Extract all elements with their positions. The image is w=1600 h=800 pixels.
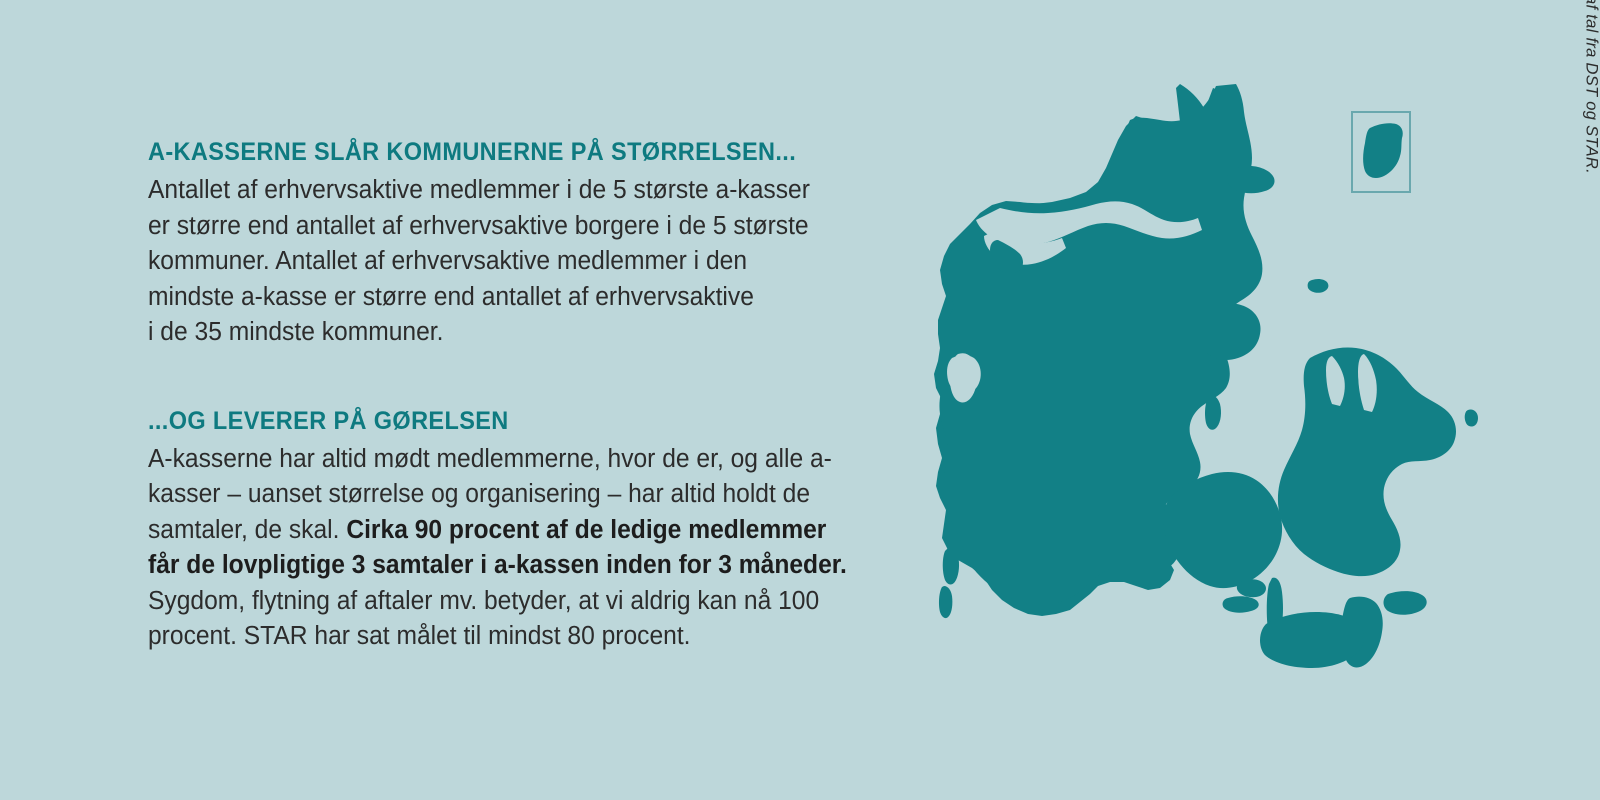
paragraph-1-line-1: Antallet af erhvervsaktive medlemmer i d…	[148, 176, 810, 204]
paragraph-1-line-5: i de 35 mindste kommuner.	[148, 318, 443, 346]
heading-a-kasserne-slaar-kommunerne: A-KASSERNE SLÅR KOMMUNERNE PÅ STØRRELSEN…	[148, 138, 844, 167]
denmark-map	[880, 58, 1500, 748]
paragraph-2-part-3: Sygdom, flytning af aftaler mv. betyder,…	[148, 587, 819, 651]
paragraph-1-line-4: mindste a-kasse er større end antallet a…	[148, 283, 754, 311]
map-island-fanoe	[943, 547, 959, 584]
text-block-2: ...OG LEVERER PÅ GØRELSEN A-kasserne har…	[148, 407, 888, 655]
map-island-taasinge	[1237, 579, 1266, 597]
map-island-samsoe	[1205, 395, 1221, 429]
source-note: Kilde: DAK på baggrund af tal fra DST og…	[1582, 0, 1600, 174]
map-island-moen	[1384, 591, 1427, 615]
text-block-1: A-KASSERNE SLÅR KOMMUNERNE PÅ STØRRELSEN…	[148, 138, 888, 351]
map-island-bornholm	[1363, 123, 1403, 178]
map-region-funen	[1163, 472, 1282, 588]
paragraph-2: A-kasserne har altid mødt medlemmerne, h…	[148, 442, 862, 655]
paragraph-1-line-2: er større end antallet af erhvervsaktive…	[148, 212, 809, 240]
heading-og-leverer-paa-goerelsen: ...OG LEVERER PÅ GØRELSEN	[148, 407, 844, 436]
map-region-djursland	[1201, 303, 1260, 360]
map-water-ringkoebing	[950, 353, 977, 402]
text-column: A-KASSERNE SLÅR KOMMUNERNE PÅ STØRRELSEN…	[148, 138, 888, 655]
poster-canvas: A-KASSERNE SLÅR KOMMUNERNE PÅ STØRRELSEN…	[0, 0, 1600, 800]
map-island-aeroe	[1223, 596, 1259, 612]
paragraph-1-line-3: kommuner. Antallet af erhvervsaktive med…	[148, 247, 747, 275]
map-island-roemoe	[939, 586, 952, 618]
paragraph-1: Antallet af erhvervsaktive medlemmer i d…	[148, 173, 862, 351]
map-island-small-east	[1465, 409, 1478, 426]
map-island-anholt	[1308, 279, 1329, 293]
